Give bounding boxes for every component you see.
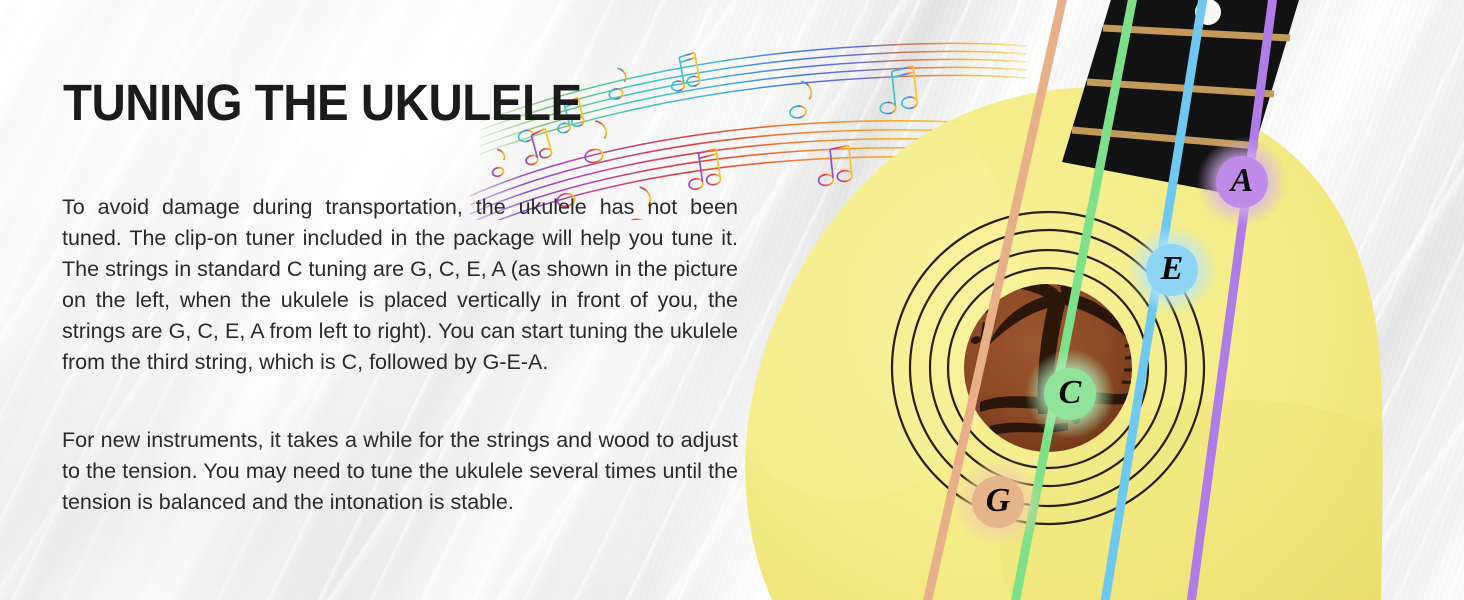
- page-title: TUNING THE UKULELE: [63, 76, 582, 130]
- body-paragraph-1: To avoid damage during transportation, t…: [62, 192, 738, 378]
- ukulele-tuning-banner: G C E A TUNING THE UKULELE To avoid dama…: [0, 0, 1464, 600]
- body-paragraph-2: For new instruments, it takes a while fo…: [62, 425, 738, 518]
